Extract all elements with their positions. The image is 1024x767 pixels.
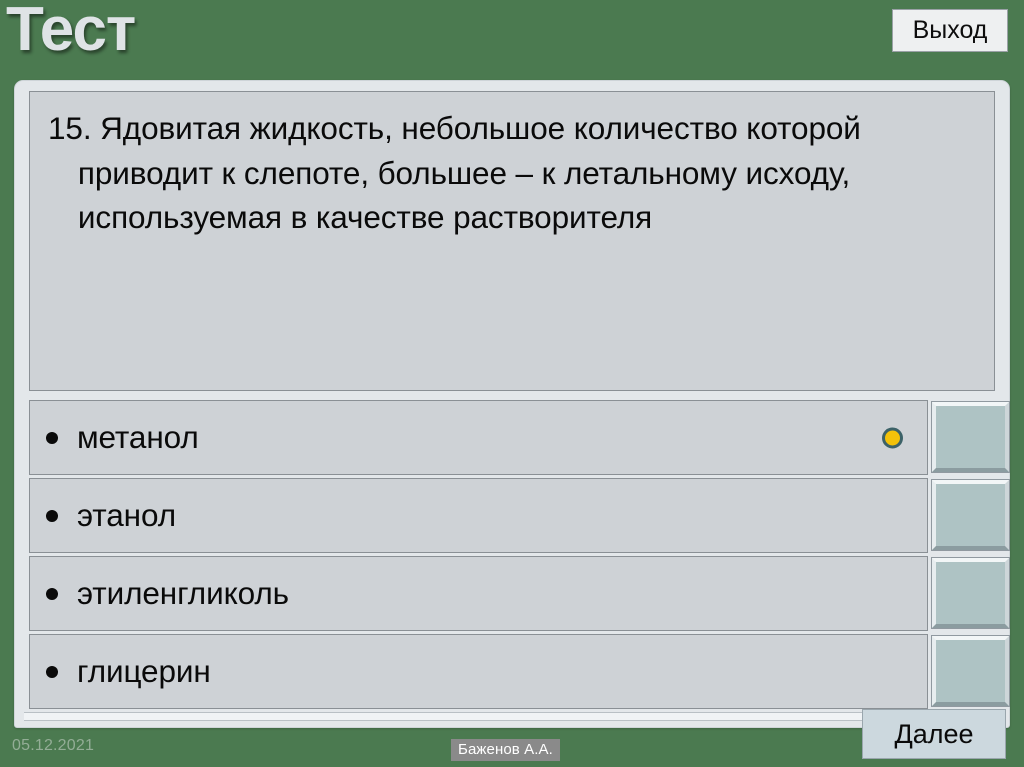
answer-select-button-2[interactable] [932, 480, 1009, 550]
question-box: 15. Ядовитая жидкость, небольшое количес… [29, 91, 995, 391]
answer-row: глицерин [29, 634, 1008, 709]
bullet-icon [46, 666, 58, 678]
exit-button-label: Выход [913, 16, 988, 45]
answer-label: глицерин [77, 656, 211, 688]
page-title: Тест [6, 0, 135, 65]
answer-option-3[interactable]: этиленгликоль [29, 556, 928, 631]
answer-row: этанол [29, 478, 1008, 553]
next-button[interactable]: Далее [862, 709, 1006, 759]
footer-author: Баженов А.А. [451, 739, 560, 761]
answer-label: метанол [77, 422, 199, 454]
footer-date: 05.12.2021 [12, 737, 94, 755]
question-text: 15. Ядовитая жидкость, небольшое количес… [48, 106, 976, 240]
next-button-label: Далее [894, 719, 973, 750]
answer-select-button-3[interactable] [932, 558, 1009, 628]
bullet-icon [46, 510, 58, 522]
answer-label: этанол [77, 500, 176, 532]
answer-row: этиленгликоль [29, 556, 1008, 631]
answer-row: метанол [29, 400, 1008, 475]
answer-label: этиленгликоль [77, 578, 289, 610]
answer-option-2[interactable]: этанол [29, 478, 928, 553]
answer-option-1[interactable]: метанол [29, 400, 928, 475]
selected-answer-indicator-icon [882, 427, 903, 448]
bullet-icon [46, 588, 58, 600]
answer-select-button-1[interactable] [932, 402, 1009, 472]
answer-select-button-4[interactable] [932, 636, 1009, 706]
answers-area: метанол этанол этиленгликоль глицерин [29, 400, 1008, 712]
answer-option-4[interactable]: глицерин [29, 634, 928, 709]
bullet-icon [46, 432, 58, 444]
exit-button[interactable]: Выход [892, 9, 1008, 52]
bottom-divider [24, 712, 1000, 721]
